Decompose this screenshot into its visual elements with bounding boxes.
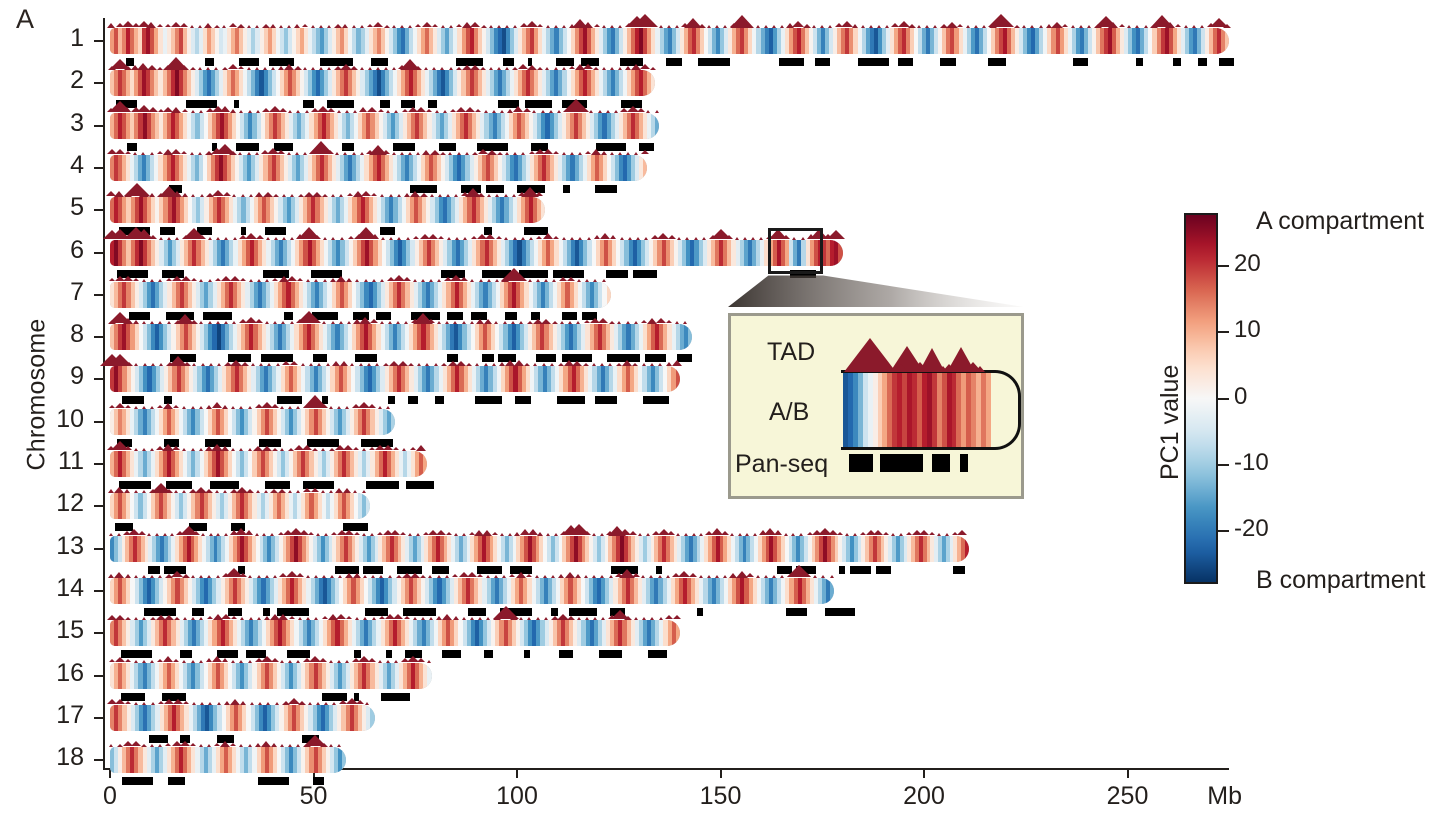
inset-label-tad: TAD <box>767 338 815 367</box>
colorbar-tick-label: 10 <box>1234 316 1261 344</box>
zoom-connector-fan <box>0 0 1447 823</box>
inset-chromosome-outline <box>841 370 1021 450</box>
colorbar-tick-mark <box>1218 530 1229 532</box>
colorbar-top-label: A compartment <box>1256 207 1424 236</box>
colorbar-tick-mark <box>1218 464 1229 466</box>
colorbar-tick-mark <box>1218 331 1229 333</box>
inset-tad-triangle <box>911 362 929 372</box>
colorbar-bottom-label: B compartment <box>1256 566 1426 595</box>
inset-pan-seq-block <box>849 454 873 472</box>
inset-label-ab: A/B <box>769 398 809 427</box>
inset-tad-triangle <box>975 366 985 372</box>
colorbar <box>1184 213 1218 584</box>
colorbar-tick-label: -10 <box>1234 449 1269 477</box>
colorbar-tick-label: -20 <box>1234 515 1269 543</box>
colorbar-tick-label: 0 <box>1234 383 1247 411</box>
colorbar-title: PC1 value <box>1156 365 1185 480</box>
inset-tad-triangle <box>942 364 956 372</box>
inset-tad-triangle <box>894 364 908 372</box>
inset-pan-seq-block <box>932 454 950 472</box>
inset-pan-seq-block <box>960 454 968 472</box>
inset-pan-seq-block <box>880 454 923 472</box>
colorbar-tick-label: 20 <box>1234 250 1261 278</box>
inset-panel: TAD A/B Pan-seq <box>728 313 1024 499</box>
colorbar-tick-mark <box>1218 398 1229 400</box>
inset-label-panseq: Pan-seq <box>735 450 828 479</box>
colorbar-tick-mark <box>1218 265 1229 267</box>
